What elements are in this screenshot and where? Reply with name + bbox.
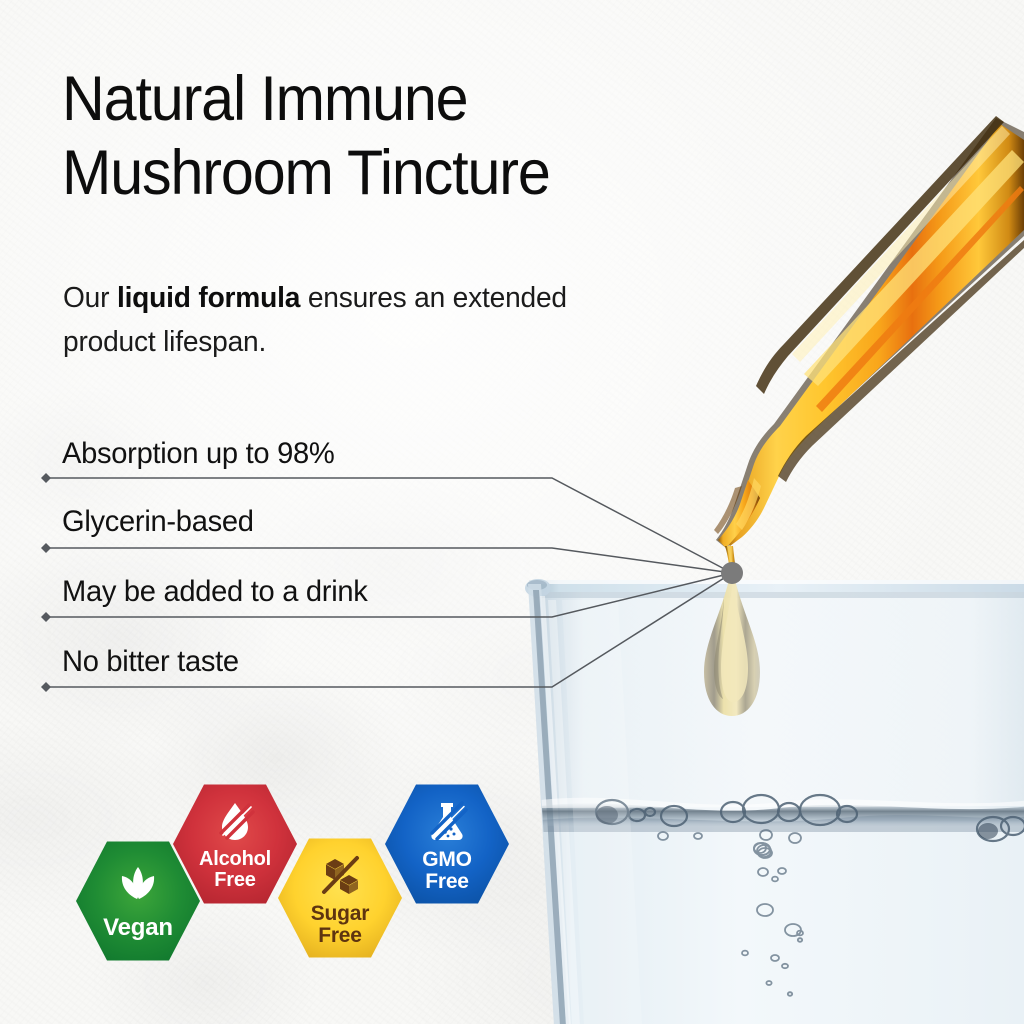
- page-title: Natural Immune Mushroom Tincture: [62, 62, 776, 211]
- badge-gmo-text: GMO Free: [422, 849, 472, 893]
- subtitle-emphasis: liquid formula: [117, 282, 300, 314]
- water-glass-group: [525, 579, 1024, 1024]
- subtitle-prefix: Our: [63, 282, 117, 314]
- feature-label-1: Glycerin-based: [62, 507, 254, 537]
- badge-alcohol-text: Alcohol Free: [199, 849, 271, 891]
- page-subtitle: Our liquid formula ensures an extended p…: [63, 276, 606, 364]
- badge-sugar-text: Sugar Free: [311, 903, 370, 947]
- sugar-cubes-slash-icon: [317, 854, 363, 896]
- infographic-canvas: Natural Immune Mushroom Tincture Our liq…: [0, 0, 1024, 1024]
- badge-sugar-line2: Free: [318, 924, 362, 947]
- badge-alcohol-line1: Alcohol: [199, 848, 271, 870]
- badge-sugar-line1: Sugar: [311, 902, 370, 925]
- droplet-slash-icon: [212, 799, 258, 843]
- feature-label-0: Absorption up to 98%: [62, 439, 334, 469]
- badge-gmo-line2: Free: [425, 870, 469, 893]
- flask-slash-icon: [424, 799, 470, 843]
- feature-label-3: No bitter taste: [62, 647, 239, 677]
- leaves-icon: [114, 861, 162, 907]
- badge-vegan-line1: Vegan: [103, 914, 173, 941]
- badge-alcohol-line2: Free: [214, 869, 255, 891]
- badge-vegan-text: Vegan: [103, 916, 173, 941]
- badge-gmo-line1: GMO: [422, 848, 472, 871]
- feature-label-2: May be added to a drink: [62, 577, 368, 607]
